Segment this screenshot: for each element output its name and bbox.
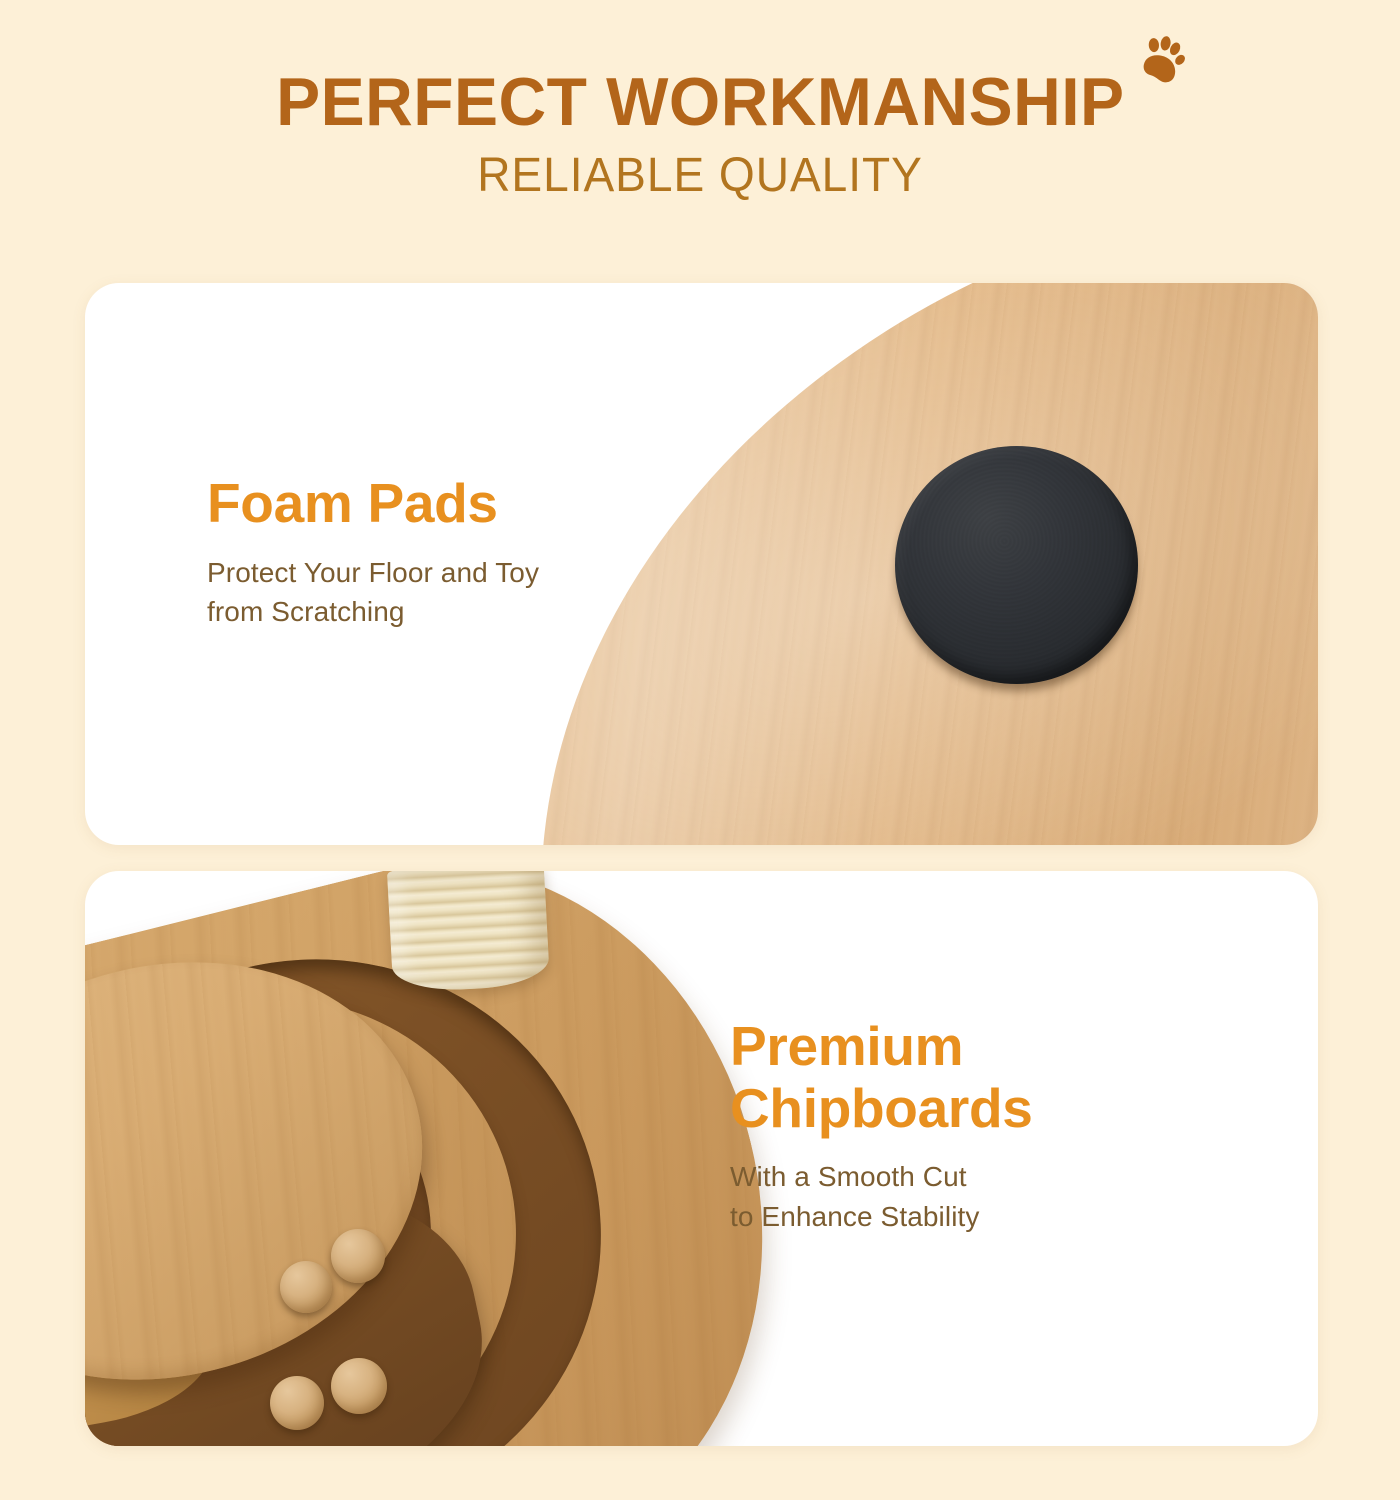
- black-foam-pad: [895, 446, 1138, 684]
- page-header: PERFECT WORKMANSHIP RELIABLE QUALITY: [0, 0, 1400, 255]
- sisal-scratching-post: [387, 871, 550, 993]
- chipboards-title-line-1: Premium: [730, 1016, 1033, 1078]
- feature-card-foam-pads: Foam Pads Protect Your Floor and Toy fro…: [85, 283, 1318, 845]
- chipboards-subtitle: With a Smooth Cut to Enhance Stability: [730, 1157, 1033, 1237]
- chipboards-title: Premium Chipboards: [730, 1016, 1033, 1139]
- feature-card-premium-chipboards: Premium Chipboards With a Smooth Cut to …: [85, 871, 1318, 1446]
- chipboards-title-line-2: Chipboards: [730, 1078, 1033, 1140]
- wooden-ball: [331, 1358, 387, 1414]
- wooden-ball: [331, 1229, 385, 1283]
- chipboards-image: [85, 871, 1318, 1446]
- product-feature-page: PERFECT WORKMANSHIP RELIABLE QUALITY Foa…: [0, 0, 1400, 1500]
- foam-pads-text-block: Foam Pads Protect Your Floor and Toy fro…: [207, 473, 539, 632]
- foam-pads-subtitle-line-2: from Scratching: [207, 592, 539, 632]
- page-subtitle: RELIABLE QUALITY: [28, 152, 1372, 200]
- foam-pads-title: Foam Pads: [207, 473, 539, 535]
- headline-wrap: PERFECT WORKMANSHIP: [263, 68, 1138, 136]
- chipboards-text-block: Premium Chipboards With a Smooth Cut to …: [730, 1016, 1033, 1237]
- foam-pads-subtitle: Protect Your Floor and Toy from Scratchi…: [207, 553, 539, 633]
- chipboards-subtitle-line-1: With a Smooth Cut: [730, 1157, 1033, 1197]
- page-title: PERFECT WORKMANSHIP: [276, 68, 1124, 136]
- paw-print-icon: [1139, 36, 1185, 84]
- wooden-ball: [280, 1261, 332, 1313]
- chipboards-subtitle-line-2: to Enhance Stability: [730, 1197, 1033, 1237]
- wooden-ball: [270, 1376, 324, 1430]
- foam-pads-subtitle-line-1: Protect Your Floor and Toy: [207, 553, 539, 593]
